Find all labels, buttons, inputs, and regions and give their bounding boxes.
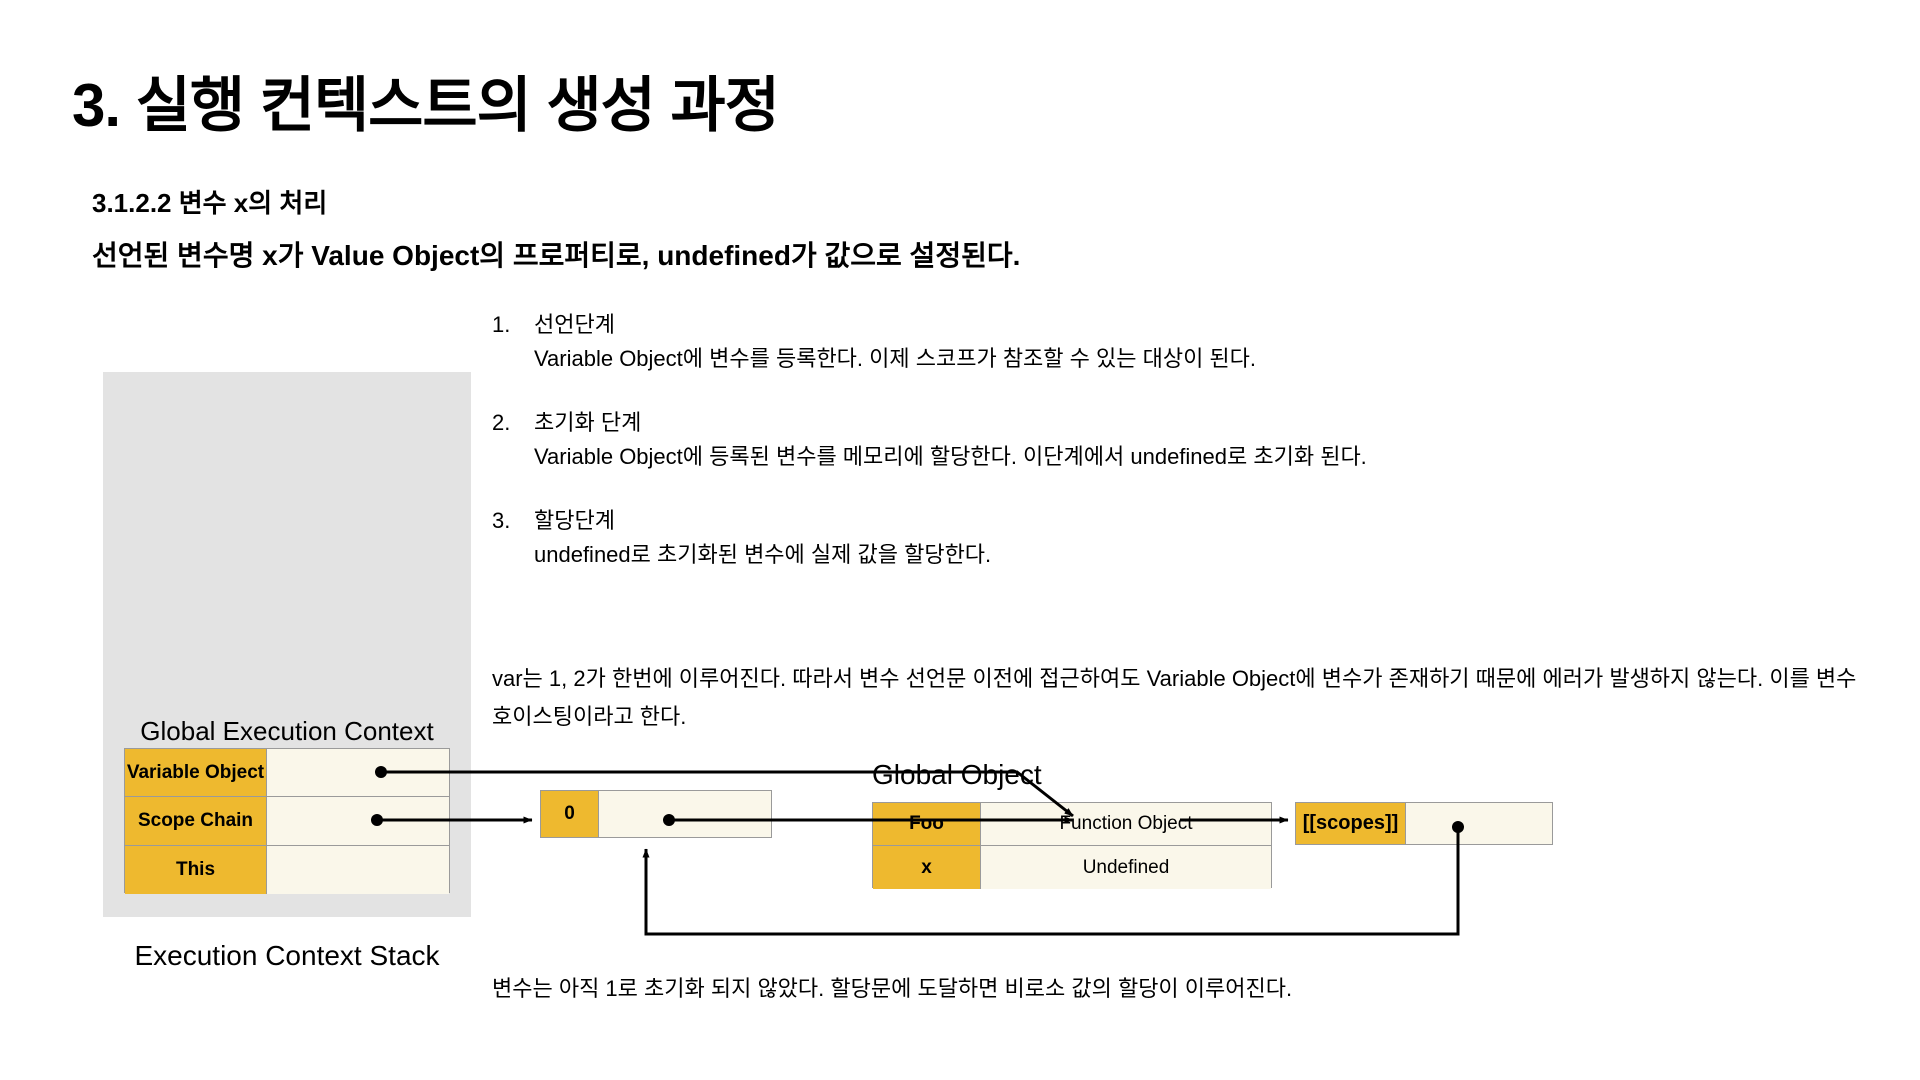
connector-arrows: [0, 0, 1920, 1080]
connector-scopes-to-array: [646, 821, 1464, 934]
connector-variable-object-to-global-object: [375, 766, 1073, 816]
connector-scope-chain-to-array: [371, 814, 532, 826]
execution-context-diagram: Global Execution Context Variable Object…: [0, 0, 1920, 1080]
connector-array-to-global-object: [663, 814, 1073, 826]
